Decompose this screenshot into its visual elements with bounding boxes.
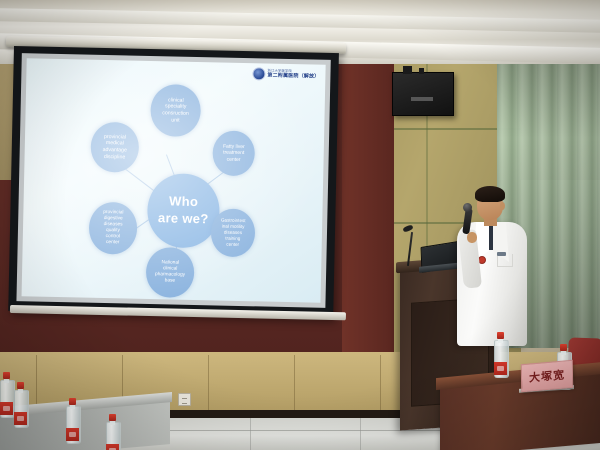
- hospital-crest-icon: [252, 67, 265, 80]
- presenter-ear: [500, 202, 505, 210]
- water-bottle: [106, 414, 119, 450]
- wall-speaker-icon: [392, 72, 454, 116]
- bubble-clinical-speciality-label: clinical speciality consruction unit: [159, 97, 192, 124]
- bubble-provincial-medical-advantage-label: provincial medical advantage discipline: [99, 134, 130, 161]
- bubble-clinical-speciality: clinical speciality consruction unit: [150, 84, 201, 137]
- water-bottle: [14, 382, 27, 428]
- bubble-national-clinical-pharmacology: National clinical pharmacology base: [146, 247, 195, 298]
- water-bottle: [66, 398, 79, 444]
- hospital-logo-text: 浙江大学医学院 第二附属医院（解放）: [267, 69, 319, 80]
- bubble-provincial-medical-advantage: provincial medical advantage discipline: [90, 122, 139, 173]
- screen-mat-border: 浙江大学医学院 第二附属医院（解放） Who: [16, 53, 330, 308]
- screen-surface: 浙江大学医学院 第二附属医院（解放） Who: [22, 58, 326, 302]
- bubble-gastrointestinal-motility: Gastrointest inal motility diseases trai…: [210, 208, 255, 257]
- presenter: [455, 186, 533, 346]
- water-bottle: [0, 372, 13, 418]
- conference-room-photo: 浙江大学医学院 第二附属医院（解放） Who: [0, 0, 600, 450]
- name-card-text: 大塚宽: [529, 366, 565, 385]
- presenter-hand: [467, 232, 477, 243]
- bubble-center-label: Who are we?: [155, 193, 212, 227]
- projection-screen: 浙江大学医学院 第二附属医院（解放） Who: [8, 46, 339, 318]
- bubble-fatty-liver: Fatty liver treatment center: [212, 130, 255, 176]
- water-bottle: [494, 332, 507, 378]
- maroon-wall-pillar: [342, 58, 394, 358]
- bubble-gastrointestinal-motility-label: Gastrointest inal motility diseases trai…: [217, 218, 248, 248]
- name-card: 大塚宽: [521, 360, 573, 393]
- power-outlet-icon: [178, 393, 191, 406]
- hospital-logo: 浙江大学医学院 第二附属医院（解放）: [252, 67, 319, 81]
- logo-line-2: 第二附属医院（解放）: [267, 73, 319, 80]
- presenter-hair: [475, 186, 505, 202]
- bubble-center-who-are-we: Who are we?: [147, 173, 221, 249]
- slide-who-are-we: 浙江大学医学院 第二附属医院（解放） Who: [22, 58, 326, 302]
- ceiling-beam: [0, 8, 600, 33]
- presenter-pocket-items: [497, 252, 506, 256]
- bubble-fatty-liver-label: Fatty liver treatment center: [220, 143, 248, 163]
- bubble-national-clinical-pharmacology-label: National clinical pharmacology base: [152, 260, 189, 285]
- bubble-provincial-digestive: provincial digestive diseases quality co…: [88, 202, 137, 255]
- bubble-provincial-digestive-label: provincial digestive diseases quality co…: [100, 210, 127, 247]
